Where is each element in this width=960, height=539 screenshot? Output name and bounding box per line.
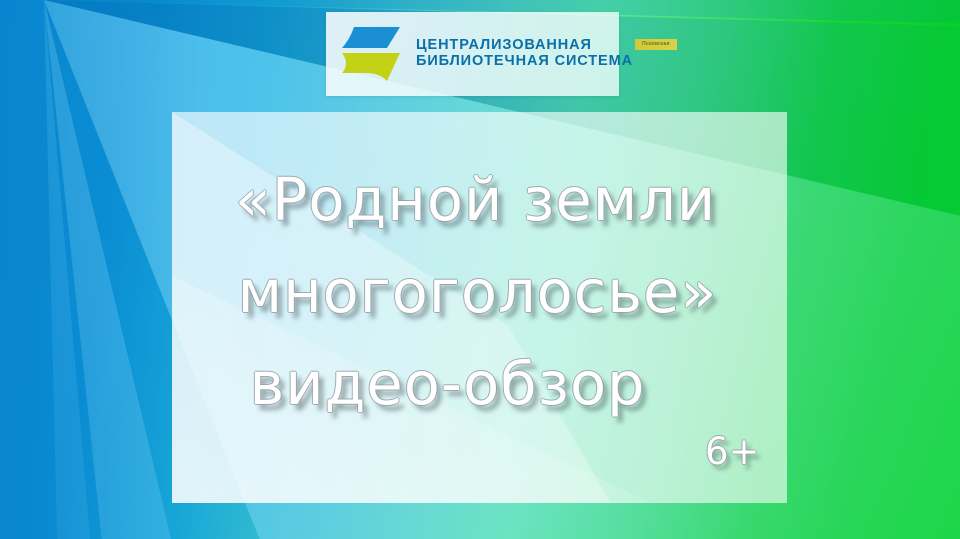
library-logo-box: ЦЕНТРАЛИЗОВАННАЯ БИБЛИОТЕЧНАЯ СИСТЕМА Пс… — [326, 12, 619, 96]
age-rating-badge: 6+ — [705, 430, 760, 473]
logo-line-2: БИБЛИОТЕЧНАЯ СИСТЕМА — [416, 54, 633, 70]
open-book-logo-mark — [340, 21, 406, 87]
content-panel: «Родной земли многоголосье» видео-обзор — [172, 112, 787, 503]
presentation-slide: ЦЕНТРАЛИЗОВАННАЯ БИБЛИОТЕЧНАЯ СИСТЕМА Пс… — [0, 0, 960, 539]
title-line-2: многоголосье» — [172, 246, 787, 338]
slide-title: «Родной земли многоголосье» видео-обзор — [172, 112, 787, 430]
background-left-vignette — [0, 0, 200, 539]
title-line-1: «Родной земли — [172, 154, 787, 246]
logo-line-1: ЦЕНТРАЛИЗОВАННАЯ — [416, 38, 633, 54]
logo-region-badge: Псковская — [635, 39, 677, 50]
library-logo-text: ЦЕНТРАЛИЗОВАННАЯ БИБЛИОТЕЧНАЯ СИСТЕМА Пс… — [416, 38, 633, 69]
title-line-3: видео-обзор — [172, 338, 787, 430]
